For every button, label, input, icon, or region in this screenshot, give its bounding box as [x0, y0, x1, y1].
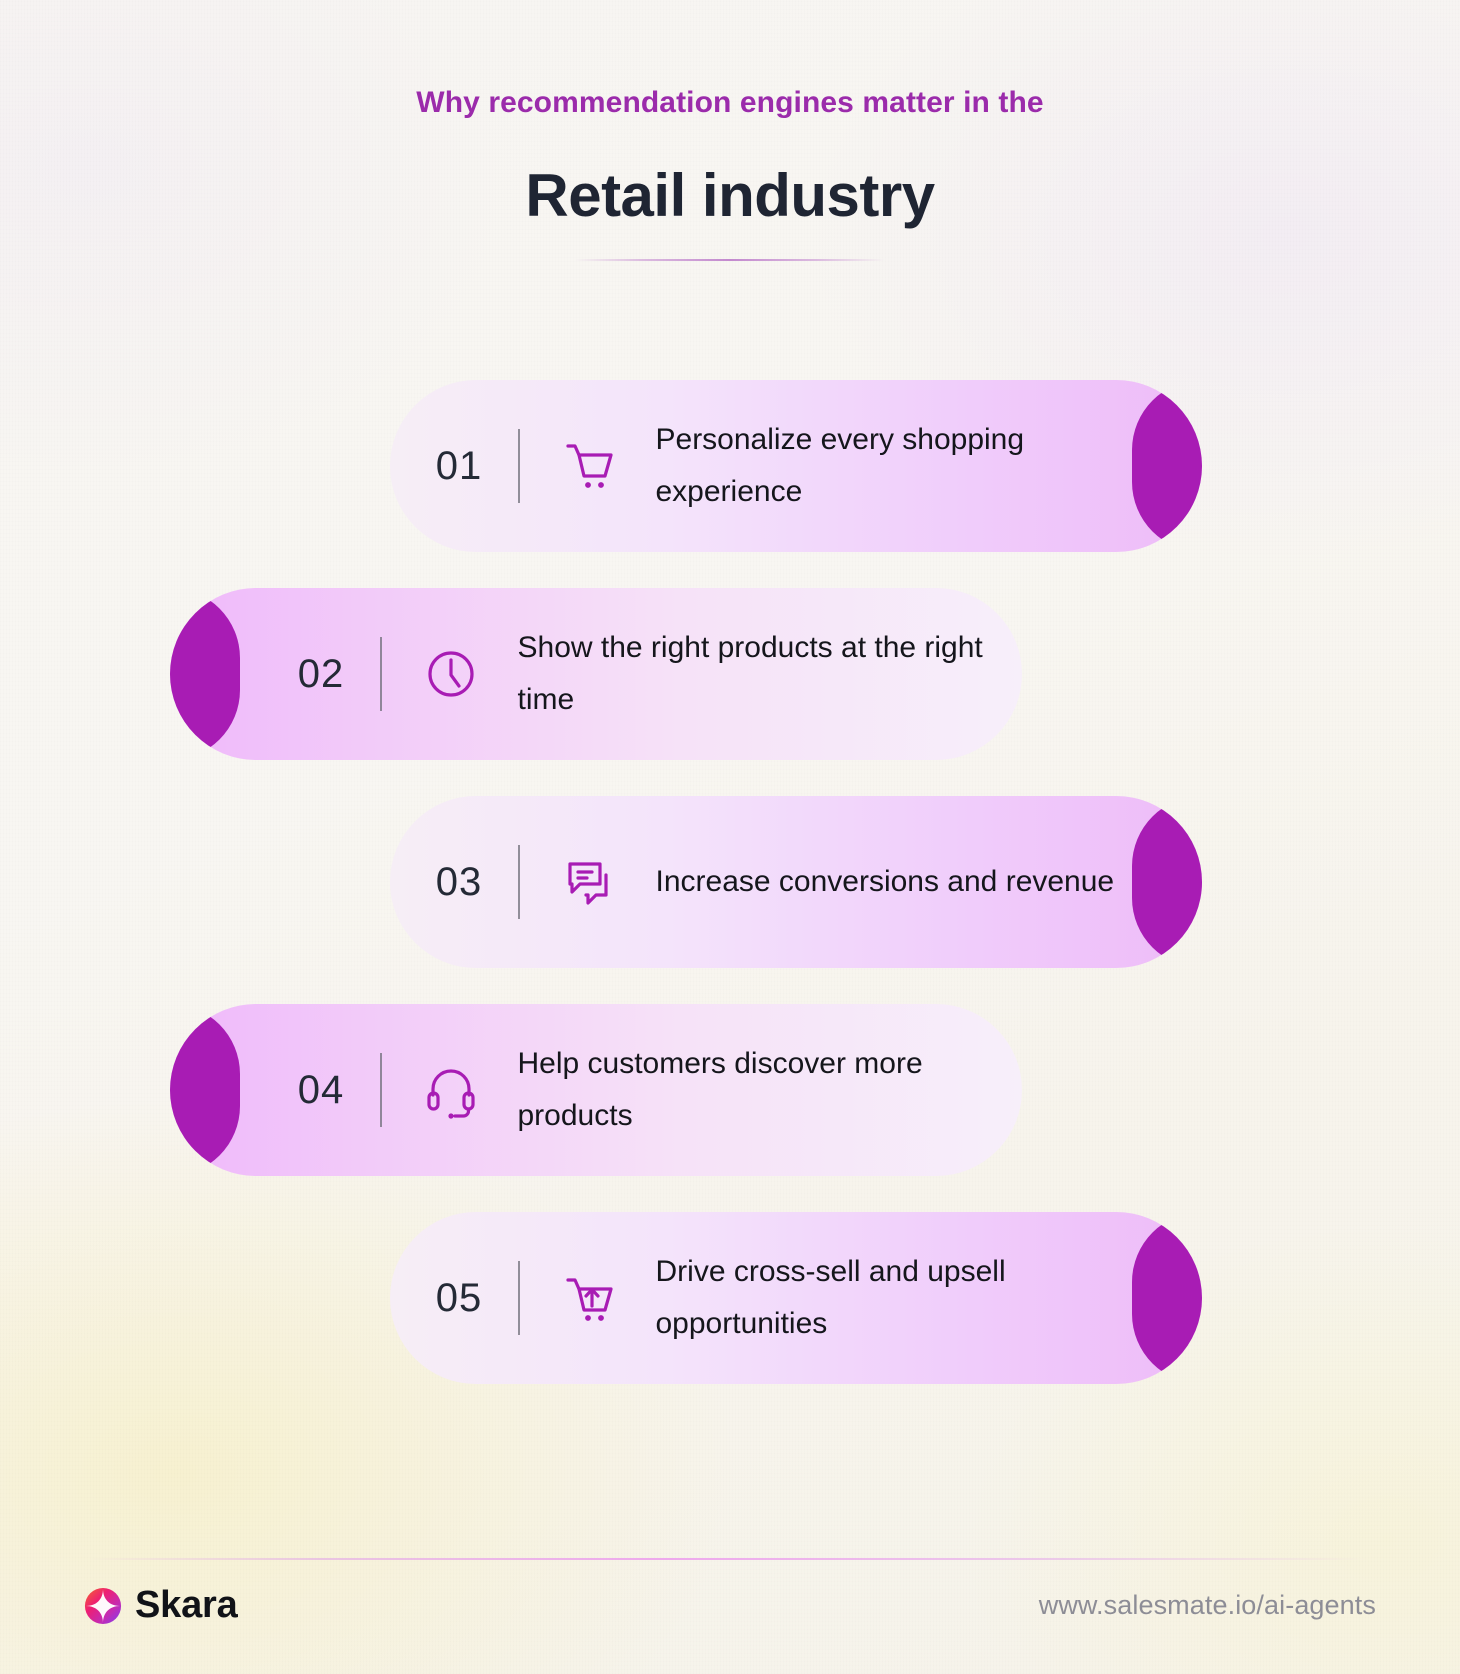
- shopping-cart-icon: [554, 431, 624, 501]
- title-divider: [575, 259, 885, 261]
- site-url[interactable]: www.salesmate.io/ai-agents: [1039, 1590, 1376, 1621]
- page-title: Retail industry: [0, 164, 1460, 227]
- benefit-number: 05: [416, 1276, 502, 1321]
- vertical-divider: [518, 429, 520, 503]
- brand-name: Skara: [135, 1584, 238, 1627]
- benefit-text: Personalize every shopping experience: [656, 414, 1126, 517]
- benefit-card-05[interactable]: 05 Drive cross-sell and upsell opportuni…: [390, 1212, 1202, 1384]
- vertical-divider: [518, 845, 520, 919]
- benefit-text: Help customers discover more products: [518, 1038, 988, 1141]
- benefit-number: 02: [278, 652, 364, 697]
- benefit-card-02[interactable]: 02 Show the right products at the right …: [170, 588, 1022, 760]
- benefits-list: 01 Personalize every shopping experience…: [0, 380, 1460, 1420]
- chat-bubbles-icon: [554, 847, 624, 917]
- footer: Skara www.salesmate.io/ai-agents: [84, 1584, 1376, 1627]
- vertical-divider: [380, 637, 382, 711]
- benefit-card-04[interactable]: 04 Help customers discover more products: [170, 1004, 1022, 1176]
- header: Why recommendation engines matter in the…: [0, 84, 1460, 261]
- headset-icon: [416, 1055, 486, 1125]
- clock-icon: [416, 639, 486, 709]
- cart-upsell-icon: [554, 1263, 624, 1333]
- infographic-page: Why recommendation engines matter in the…: [0, 0, 1460, 1674]
- skara-logo-icon: [84, 1587, 122, 1625]
- vertical-divider: [380, 1053, 382, 1127]
- benefit-text: Show the right products at the right tim…: [518, 622, 988, 725]
- footer-divider: [88, 1558, 1372, 1560]
- benefit-number: 01: [416, 444, 502, 489]
- brand-logo[interactable]: Skara: [84, 1584, 238, 1627]
- vertical-divider: [518, 1261, 520, 1335]
- benefit-text: Drive cross-sell and upsell opportunitie…: [656, 1246, 1126, 1349]
- benefit-card-01[interactable]: 01 Personalize every shopping experience: [390, 380, 1202, 552]
- benefit-text: Increase conversions and revenue: [656, 856, 1115, 908]
- eyebrow-text: Why recommendation engines matter in the: [0, 84, 1460, 122]
- benefit-number: 03: [416, 860, 502, 905]
- benefit-number: 04: [278, 1068, 364, 1113]
- benefit-card-03[interactable]: 03 Increase conversions and revenue: [390, 796, 1202, 968]
